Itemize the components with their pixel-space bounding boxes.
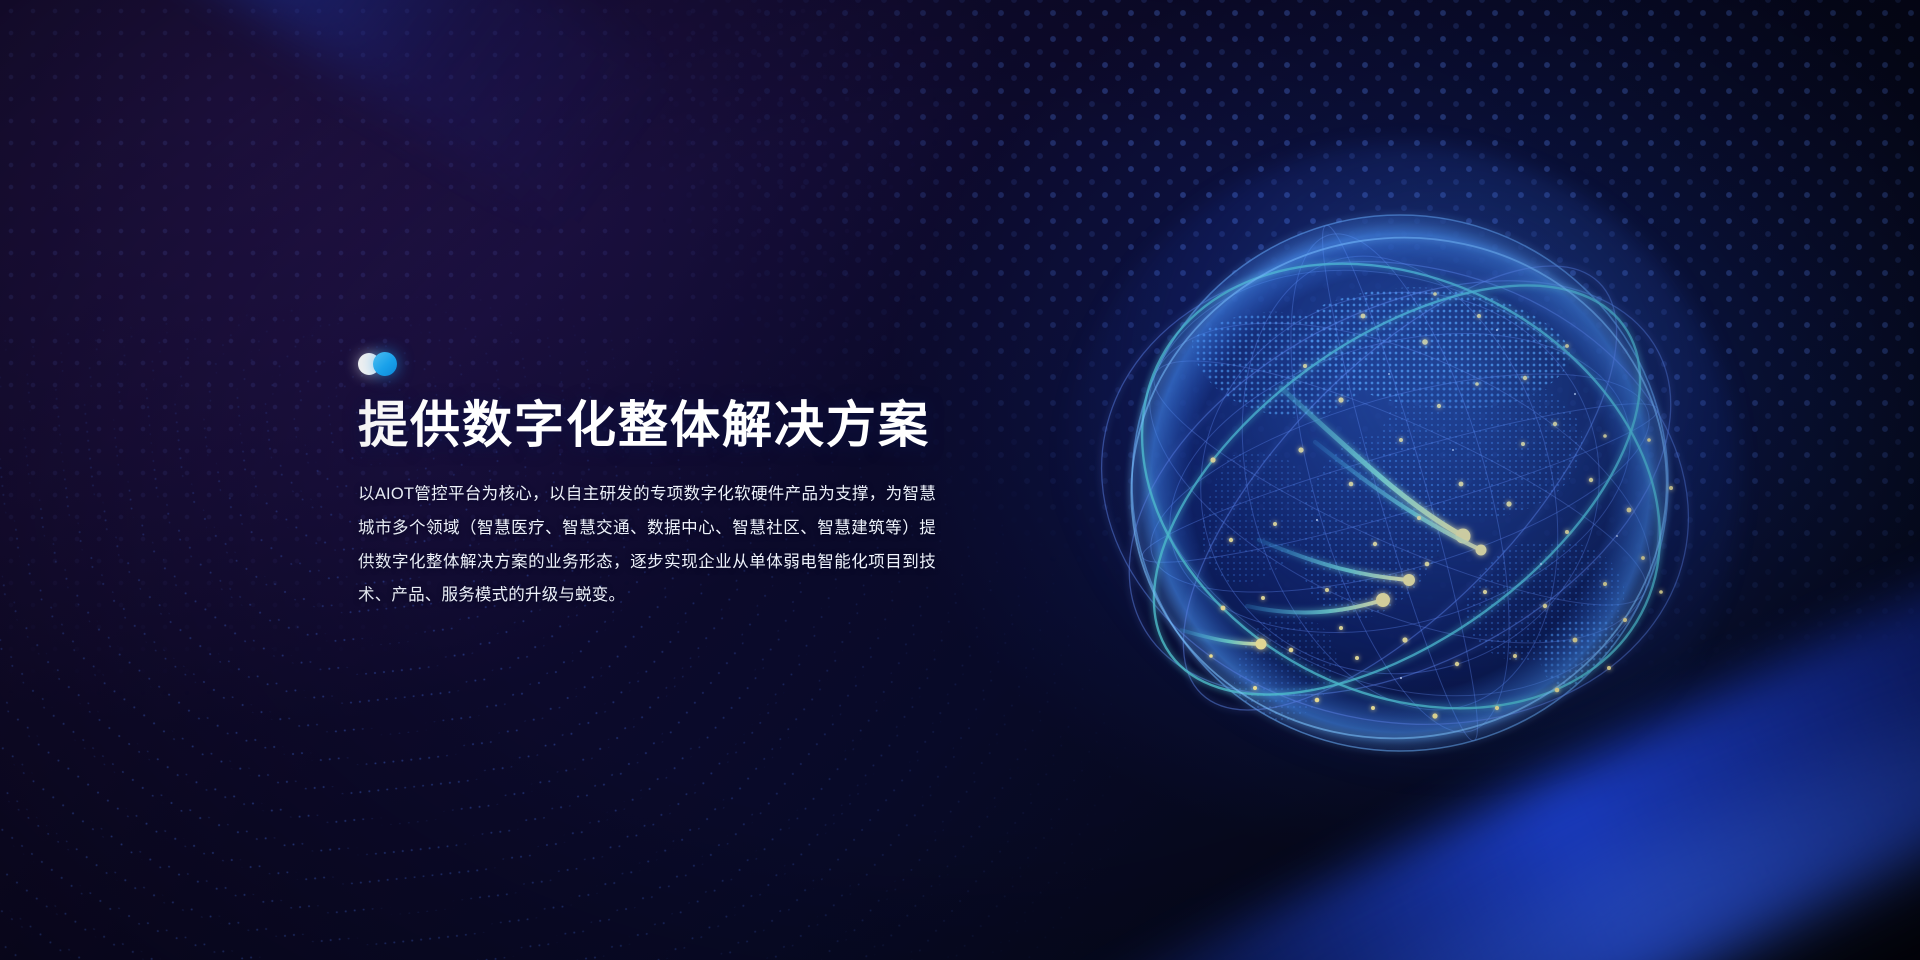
page-title: 提供数字化整体解决方案 — [358, 398, 978, 452]
marker-dots — [358, 352, 978, 376]
marker-dot-cyan-icon — [373, 352, 397, 376]
hero-text-block: 提供数字化整体解决方案 以AIOT管控平台为核心，以自主研发的专项数字化软硬件产… — [358, 352, 978, 613]
description-text: 以AIOT管控平台为核心，以自主研发的专项数字化软硬件产品为支撑，为智慧城市多个… — [358, 478, 936, 613]
hero-banner: 提供数字化整体解决方案 以AIOT管控平台为核心，以自主研发的专项数字化软硬件产… — [0, 0, 1920, 960]
dotted-wireframe-globe — [1105, 188, 1695, 778]
